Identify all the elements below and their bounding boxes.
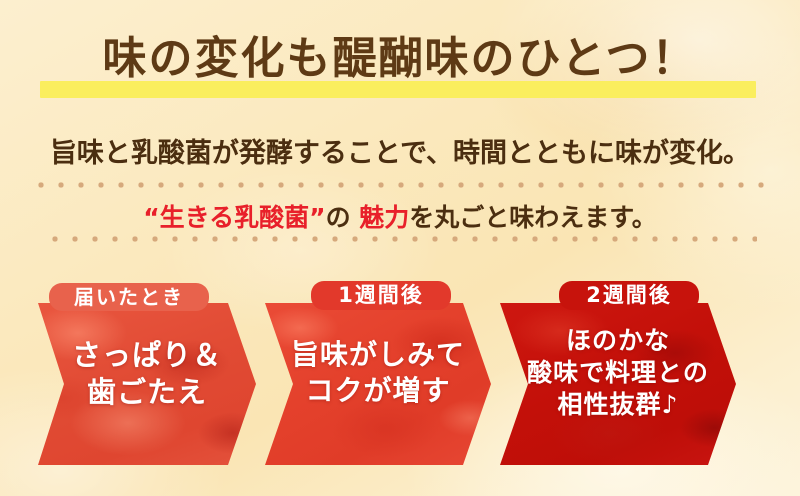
stage-text-line-2: 歯ごたえ [38,374,256,411]
stage-text-line-1: ほのかな [500,325,736,357]
subtitle-emphasis-charm: 魅力 [359,203,409,232]
stage-badge-one-week: 1週間後 [311,281,451,310]
stage-badge-label: 1週間後 [311,281,451,310]
headline-block: 味の変化も醍醐味のひとつ！ [0,26,800,96]
subtitle-plain-2: を丸ごと味わえます。 [409,203,657,232]
stage-panel-two-weeks: ほのかな 酸味で料理との 相性抜群♪ [500,303,736,465]
stage-panel-one-week: 旨味がしみて コクが増す [265,303,491,465]
stage-text-line-2: コクが増す [265,373,491,409]
stage-panel-text-2: 旨味がしみて コクが増す [265,337,491,409]
stage-badge-label: 届いたとき [49,283,209,311]
stage-text-line-3: 相性抜群♪ [500,389,736,421]
page-title: 味の変化も醍醐味のひとつ！ [0,26,800,92]
subtitle-emphasis-probiotic: “生きる乳酸菌” [143,203,325,232]
stage-panel-on-arrival: さっぱり＆ 歯ごたえ [38,303,256,465]
promo-banner: 味の変化も醍醐味のひとつ！ 旨味と乳酸菌が発酵することで、時間とともに味が変化。… [0,0,800,496]
subtitle-plain-1: の [326,203,360,232]
subtitle-line-2: “生きる乳酸菌”の 魅力を丸ごと味わえます。 [0,198,800,234]
subtitle-line-1: 旨味と乳酸菌が発酵することで、時間とともに味が変化。 [0,131,800,170]
dotted-divider-bottom [45,236,757,242]
stage-badge-two-weeks: 2週間後 [559,281,699,310]
stage-badge-on-arrival: 届いたとき [49,283,209,311]
stage-panel-text-3: ほのかな 酸味で料理との 相性抜群♪ [500,325,736,421]
stage-text-line-2: 酸味で料理との [500,357,736,389]
stage-panel-text-1: さっぱり＆ 歯ごたえ [38,337,256,411]
timeline-stages: さっぱり＆ 歯ごたえ 旨味がしみて コクが増す ほのかな 酸味で料理との 相性抜… [0,303,800,465]
dotted-divider-top [31,182,769,188]
stage-text-line-1: さっぱり＆ [38,337,256,374]
stage-badge-label: 2週間後 [559,281,699,310]
stage-text-line-1: 旨味がしみて [265,337,491,373]
